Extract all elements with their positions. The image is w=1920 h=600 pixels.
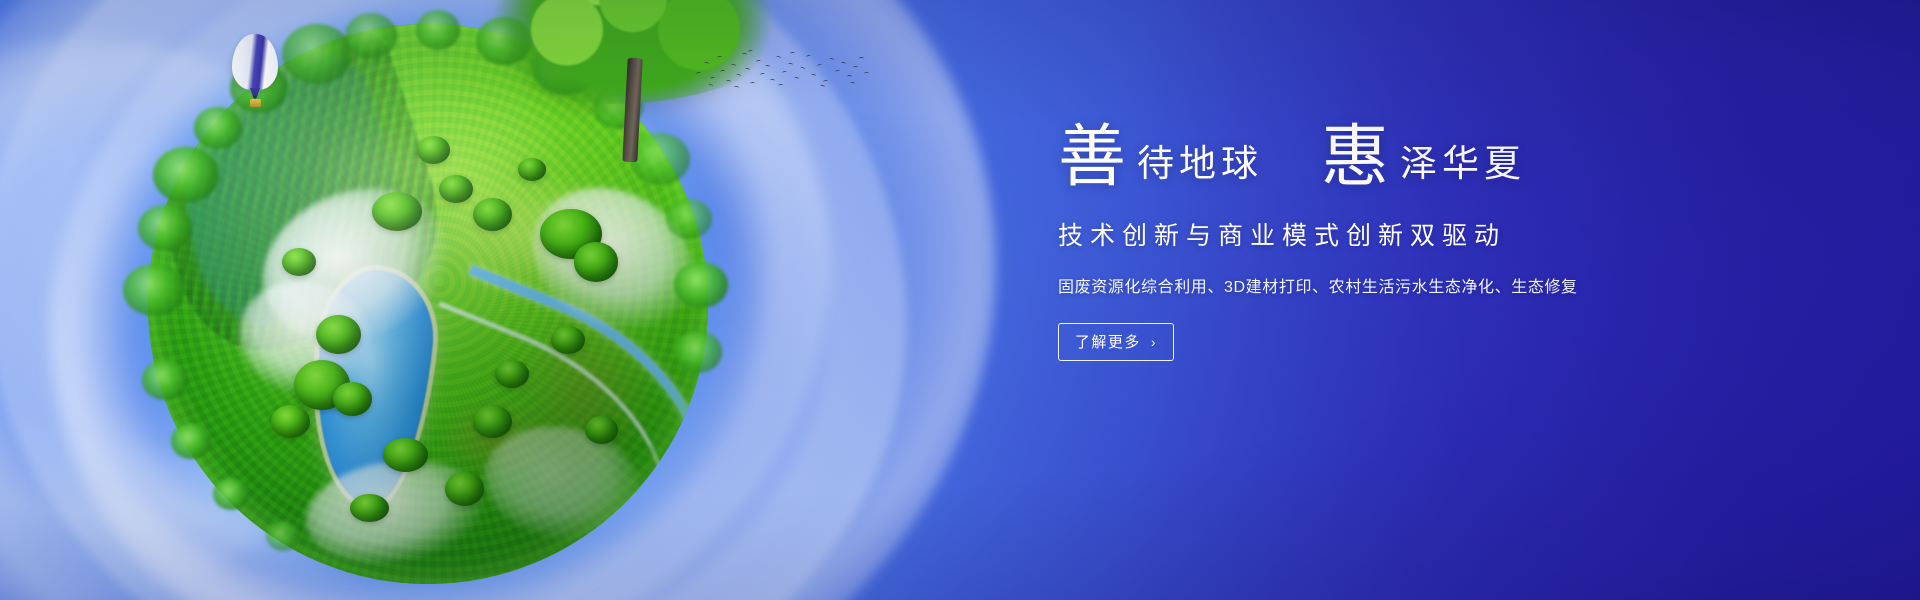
- bird: [708, 83, 714, 87]
- bird: [742, 53, 747, 57]
- bird: [717, 56, 722, 60]
- balloon-basket: [250, 99, 261, 107]
- bird: [720, 70, 725, 73]
- headline: 善 待地球 惠 泽华夏: [1058, 126, 1758, 190]
- bird: [806, 54, 812, 58]
- bird: [817, 63, 823, 67]
- bird: [704, 62, 709, 66]
- bird: [820, 84, 826, 88]
- sub-headline: 技术创新与商业模式创新双驱动: [1058, 216, 1758, 252]
- bird: [760, 72, 766, 76]
- bird: [788, 63, 793, 66]
- bird: [696, 72, 702, 76]
- bird: [770, 79, 775, 82]
- bird: [734, 86, 739, 90]
- bird: [776, 55, 782, 59]
- bird: [847, 75, 852, 78]
- bird: [823, 80, 828, 83]
- bird: [765, 65, 770, 69]
- hero-copy-block: 善 待地球 惠 泽华夏 技术创新与商业模式创新双驱动 固废资源化综合利用、3D建…: [1058, 126, 1758, 361]
- bird: [782, 71, 787, 75]
- bird: [835, 70, 840, 74]
- bird: [750, 82, 755, 86]
- hot-air-balloon-icon: [232, 34, 278, 120]
- learn-more-button[interactable]: 了解更多 ›: [1058, 323, 1174, 361]
- bird: [841, 62, 846, 66]
- headline-accent-1: 善: [1058, 126, 1127, 190]
- bird-flock-icon: [690, 44, 870, 96]
- balloon-envelope: [232, 34, 278, 90]
- headline-rest-2: 泽华夏: [1400, 145, 1526, 190]
- bird: [800, 66, 806, 71]
- chevron-right-icon: ›: [1151, 334, 1157, 350]
- bird: [864, 72, 869, 75]
- hero-banner: 善 待地球 惠 泽华夏 技术创新与商业模式创新双驱动 固废资源化综合利用、3D建…: [0, 0, 1920, 600]
- service-description: 固废资源化综合利用、3D建材打印、农村生活污水生态净化、生态修复: [1058, 273, 1758, 297]
- bird: [853, 66, 858, 69]
- learn-more-label: 了解更多: [1075, 331, 1141, 352]
- bird: [859, 57, 864, 60]
- bird: [850, 82, 855, 86]
- bird: [790, 52, 795, 55]
- bird: [736, 73, 742, 77]
- bird: [778, 84, 783, 87]
- bird: [748, 49, 754, 53]
- bird: [710, 77, 715, 81]
- bird: [756, 59, 762, 63]
- bird: [726, 80, 731, 83]
- headline-rest-1: 待地球: [1137, 145, 1263, 190]
- headline-accent-2: 惠: [1321, 126, 1390, 190]
- bird: [745, 67, 751, 71]
- bird: [794, 76, 800, 80]
- bird: [731, 64, 737, 68]
- bird: [811, 74, 816, 78]
- bird: [829, 58, 835, 62]
